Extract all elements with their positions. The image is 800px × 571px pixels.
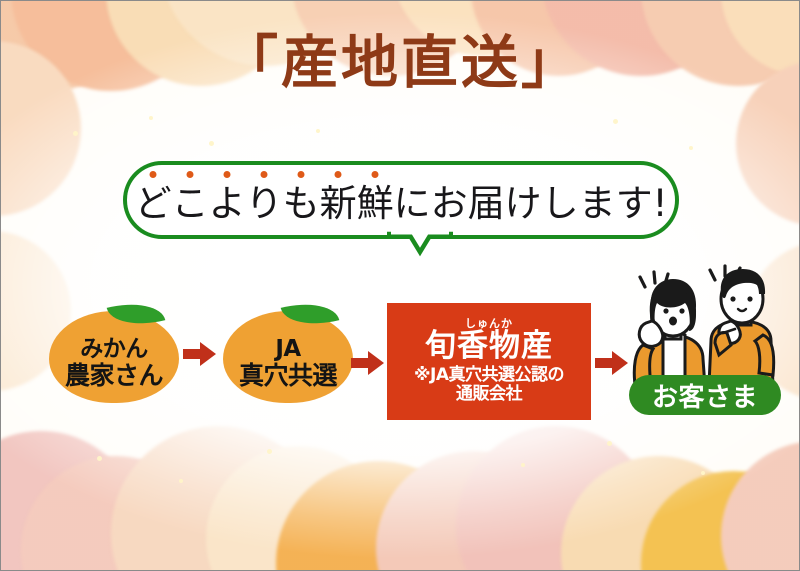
poster-canvas: 「産地直送」 どこよりも新鮮にお届けします! みかん 農家さん bbox=[0, 0, 800, 571]
bubble-char: 鮮 bbox=[357, 185, 394, 222]
bubble-char: け bbox=[505, 185, 542, 222]
bubble-char: ま bbox=[579, 185, 616, 222]
arrow-right-icon bbox=[183, 341, 217, 367]
flow-node-label-line2: 真穴共選 bbox=[239, 362, 337, 389]
flow-node-ja-maana: JA 真穴共選 bbox=[223, 295, 353, 403]
supply-chain-flow: みかん 農家さん JA 真穴共選 bbox=[1, 273, 800, 433]
flow-node-label-line2: 農家さん bbox=[65, 362, 163, 389]
bubble-char: ど bbox=[135, 185, 172, 222]
flow-node-label: みかん 農家さん bbox=[49, 311, 179, 403]
bubble-char: こ bbox=[172, 185, 209, 222]
bubble-char: す bbox=[616, 185, 653, 222]
bubble-char: り bbox=[246, 185, 283, 222]
bubble-char: ! bbox=[653, 185, 668, 222]
bubble-char: 届 bbox=[468, 185, 505, 222]
company-note-line2: 通販会社 bbox=[456, 385, 522, 405]
speech-bubble-text: どこよりも新鮮にお届けします! bbox=[135, 179, 668, 222]
arrow-right-icon bbox=[351, 350, 385, 376]
bubble-char: 新 bbox=[320, 185, 357, 222]
bubble-char: お bbox=[431, 185, 468, 222]
flow-node-label-line1: みかん bbox=[80, 337, 148, 362]
customer-badge: お客さま bbox=[629, 375, 781, 415]
flow-node-customers: お客さま bbox=[623, 263, 795, 428]
flow-node-label-line1: JA bbox=[275, 337, 300, 362]
flow-node-mikan-farmer: みかん 農家さん bbox=[49, 295, 179, 403]
bubble-char: し bbox=[542, 185, 579, 222]
speech-bubble: どこよりも新鮮にお届けします! bbox=[123, 161, 679, 256]
speech-bubble-tail-icon bbox=[385, 231, 455, 261]
page-title: 「産地直送」 bbox=[1, 34, 800, 91]
bubble-char: よ bbox=[209, 185, 246, 222]
company-note-line1: ※JA真穴共選公認の bbox=[414, 366, 564, 386]
flow-node-label: JA 真穴共選 bbox=[223, 311, 353, 403]
bubble-char: も bbox=[283, 185, 320, 222]
company-name: 旬香物産 bbox=[425, 330, 553, 363]
bubble-char: に bbox=[394, 185, 431, 222]
flow-node-shunka-bussan: しゅんか 旬香物産 ※JA真穴共選公認の 通販会社 bbox=[387, 303, 591, 420]
